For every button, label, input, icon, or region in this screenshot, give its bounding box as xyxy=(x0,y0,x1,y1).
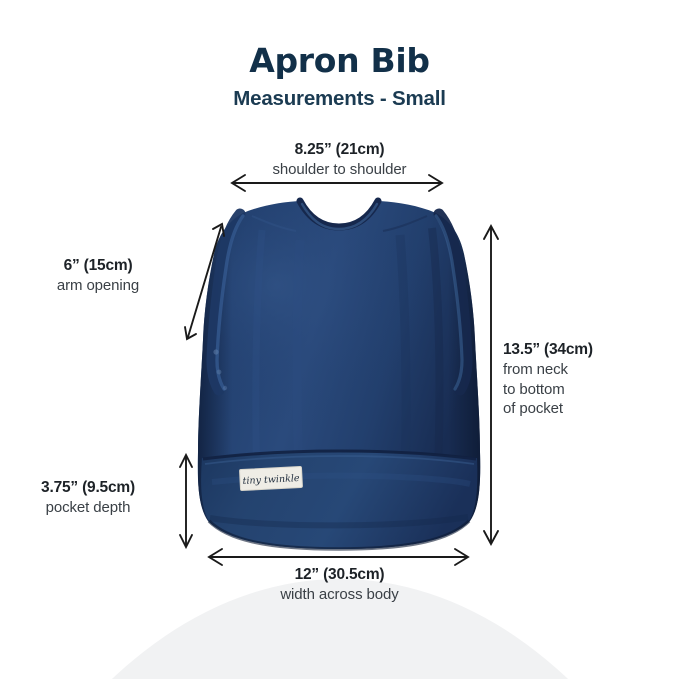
measurement-diagram-page: Apron Bib Measurements - Small xyxy=(0,0,679,679)
measurement-value: 3.75” (9.5cm) xyxy=(0,478,176,498)
measurement-shoulder-to-shoulder: 8.25” (21cm) shoulder to shoulder xyxy=(0,140,679,180)
measurement-value: 6” (15cm) xyxy=(0,256,196,276)
garment-pocket xyxy=(201,451,477,549)
page-title: Apron Bib xyxy=(0,44,679,79)
page-subtitle: Measurements - Small xyxy=(0,87,679,111)
measurement-value: 13.5” (34cm) xyxy=(503,340,673,360)
brand-label-tag: tiny twinkle xyxy=(239,466,302,490)
measurement-arm-opening: 6” (15cm) arm opening xyxy=(0,256,196,296)
measurement-description: width across body xyxy=(0,585,679,605)
measurement-description-line-1: from neck xyxy=(503,360,673,380)
title-block: Apron Bib Measurements - Small xyxy=(0,44,679,111)
measurement-pocket-depth: 3.75” (9.5cm) pocket depth xyxy=(0,478,176,518)
measurement-description-line-2: to bottom xyxy=(503,380,673,400)
measurement-width-across-body: 12” (30.5cm) width across body xyxy=(0,565,679,605)
measurement-description: arm opening xyxy=(0,276,196,296)
measurement-description-line-3: of pocket xyxy=(503,399,673,419)
measurement-description: shoulder to shoulder xyxy=(0,160,679,180)
measurement-neck-to-pocket: 13.5” (34cm) from neck to bottom of pock… xyxy=(503,340,673,419)
measurement-value: 8.25” (21cm) xyxy=(0,140,679,160)
measurement-value: 12” (30.5cm) xyxy=(0,565,679,585)
measurement-description: pocket depth xyxy=(0,498,176,518)
